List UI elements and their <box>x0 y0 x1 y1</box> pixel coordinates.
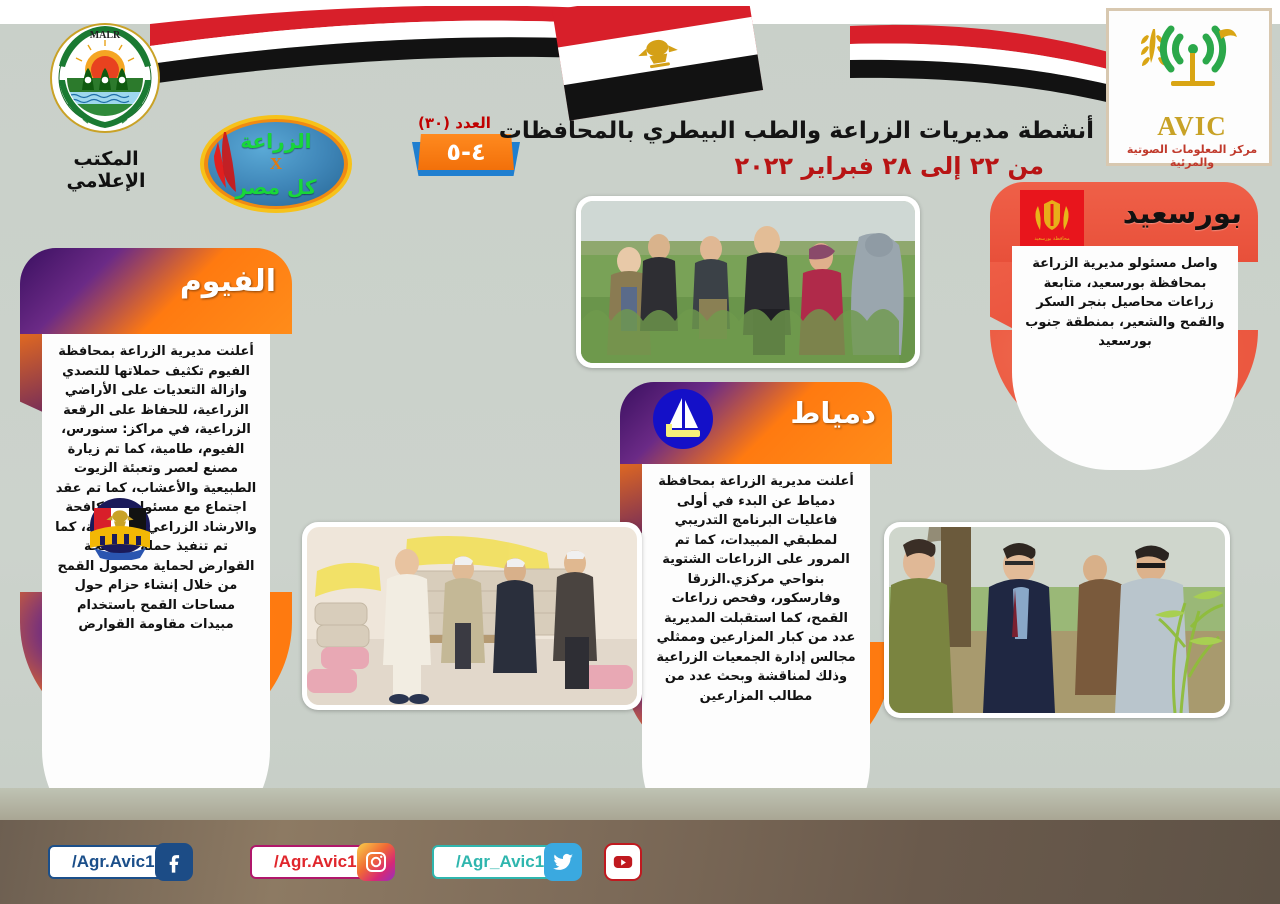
social-youtube[interactable] <box>604 842 642 882</box>
footer-separator <box>0 788 1280 820</box>
svg-text:MALR: MALR <box>90 30 121 41</box>
card-fayoum: الفيوم أعلنت مديرية الزراعة بمحافظة الفي… <box>20 248 292 742</box>
card-portsaid: بورسعيد محافظة بورسعيد واصل مسئولو مديري… <box>990 182 1258 442</box>
card-fayoum-text: أعلنت مديرية الزراعة بمحافظة الفيوم تكثي… <box>42 334 270 643</box>
instagram-handle: /Agr.Avic1 <box>274 852 357 872</box>
brand-x: X <box>270 154 282 174</box>
social-instagram[interactable]: /Agr.Avic1 <box>250 842 395 882</box>
twitter-handle: /Agr_Avic1 <box>456 852 544 872</box>
card-portsaid-title: بورسعيد <box>1123 196 1242 230</box>
card-fayoum-body: أعلنت مديرية الزراعة بمحافظة الفيوم تكثي… <box>42 334 270 854</box>
malr-logo: MALR <box>42 18 168 144</box>
photo-field-meeting <box>576 196 920 368</box>
avic-logo: AVIC مركز المعلومات الصوتية والمرئية <box>1106 8 1272 166</box>
card-portsaid-body: واصل مسئولو مديرية الزراعة بمحافظة بورسع… <box>1012 246 1238 470</box>
photo-warehouse-visit <box>302 522 642 710</box>
card-damietta-title: دمياط <box>790 396 876 430</box>
avic-subtitle: مركز المعلومات الصوتية والمرئية <box>1109 143 1275 169</box>
page-title: أنشطة مديريات الزراعة والطب البيطري بالم… <box>454 118 1094 144</box>
social-facebook[interactable]: /Agr.Avic1 <box>48 842 193 882</box>
infographic-page: MALR المكتب الإعلامي الزراعة X كل مصر ال… <box>0 0 1280 904</box>
damietta-emblem <box>652 388 714 450</box>
media-office-label: المكتب الإعلامي <box>36 148 176 192</box>
svg-text:محافظة بورسعيد: محافظة بورسعيد <box>1034 236 1070 242</box>
portsaid-emblem: محافظة بورسعيد <box>1020 190 1084 252</box>
fayoum-emblem <box>80 496 160 560</box>
brand-line-2: كل مصر <box>236 175 317 199</box>
facebook-icon[interactable] <box>155 843 193 881</box>
card-portsaid-text: واصل مسئولو مديرية الزراعة بمحافظة بورسع… <box>1012 246 1238 360</box>
avic-name: AVIC <box>1109 111 1275 142</box>
egypt-flag-ribbon <box>150 6 1160 126</box>
date-range: من ٢٢ إلى ٢٨ فبراير ٢٠٢٢ <box>484 152 1044 180</box>
card-fayoum-title: الفيوم <box>180 264 276 299</box>
facebook-handle: /Agr.Avic1 <box>72 852 155 872</box>
card-damietta-text: أعلنت مديرية الزراعة بمحافظة دمياط عن ال… <box>642 464 870 714</box>
card-damietta: دمياط أعلنت مديرية الزراعة بمحافظة دمياط… <box>620 382 892 774</box>
social-twitter[interactable]: /Agr_Avic1 <box>432 842 582 882</box>
card-damietta-header: دمياط <box>620 382 892 464</box>
youtube-icon[interactable] <box>604 843 642 881</box>
footer-bar: /Agr.Avic1 /Agr.Avic1 /Agr_Avic1 <box>0 820 1280 904</box>
instagram-icon[interactable] <box>357 843 395 881</box>
brand-line-1: الزراعة <box>241 129 312 153</box>
card-fayoum-header: الفيوم <box>20 248 292 334</box>
agriculture-everywhere-logo: الزراعة X كل مصر <box>196 112 356 216</box>
photo-wheat-inspection <box>884 522 1230 718</box>
twitter-icon[interactable] <box>544 843 582 881</box>
